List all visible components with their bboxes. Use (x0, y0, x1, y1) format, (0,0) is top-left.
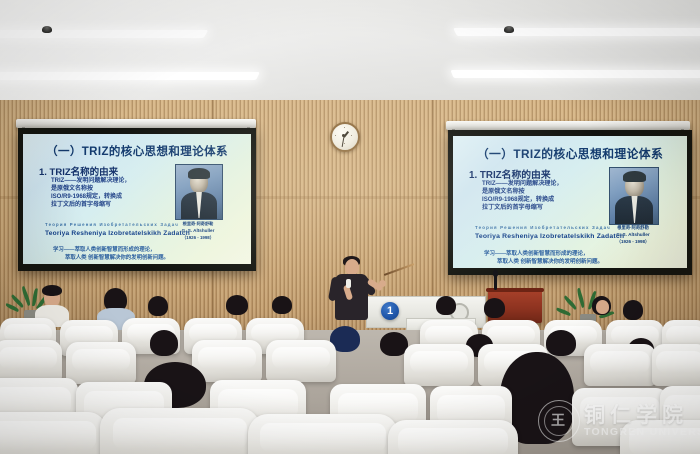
watermark-chinese-name: 铜仁学院 (584, 399, 688, 429)
seat (266, 340, 336, 382)
ceiling-light-strip (453, 28, 700, 36)
seat (248, 414, 398, 454)
badge-icon: 1 (381, 302, 399, 320)
lectern-mic-head (493, 270, 498, 277)
seal-glyph: 王 (551, 412, 565, 428)
seat (388, 420, 518, 454)
audience-head (484, 298, 505, 318)
audience-head (546, 330, 576, 356)
watermark-tongren-university: 王 铜仁学院 TONGREN UNIVERSITY (538, 398, 696, 450)
seat (100, 408, 260, 454)
ceiling-light-strip (0, 30, 208, 38)
audience-head (148, 296, 168, 316)
seat (584, 344, 656, 386)
presenter-hand (379, 280, 386, 287)
seat (0, 412, 106, 454)
university-seal-icon: 王 (538, 400, 580, 442)
watermark-english-name: TONGREN UNIVERSITY (584, 426, 700, 438)
audience-hair (42, 285, 62, 296)
audience-head (272, 296, 292, 314)
seat (404, 344, 474, 386)
seat (652, 344, 700, 386)
audience-head (623, 300, 643, 320)
seat (0, 340, 62, 382)
presenter-microphone (346, 279, 351, 288)
lecture-hall-photo: （一）TRIZ的核心思想和理论体系 1. TRIZ名称的由来 TRIZ——发明问… (0, 0, 700, 454)
ceiling-light-strip (0, 72, 260, 80)
ceiling-dome-light (42, 26, 52, 33)
audience-head (226, 295, 248, 315)
audience-head (596, 300, 609, 314)
presenter-head (345, 259, 359, 275)
audience-head (436, 296, 456, 315)
ceiling-light-strip (450, 70, 700, 78)
seat (66, 342, 136, 384)
ceiling-dome-light (504, 26, 514, 33)
audience-head (150, 330, 178, 356)
